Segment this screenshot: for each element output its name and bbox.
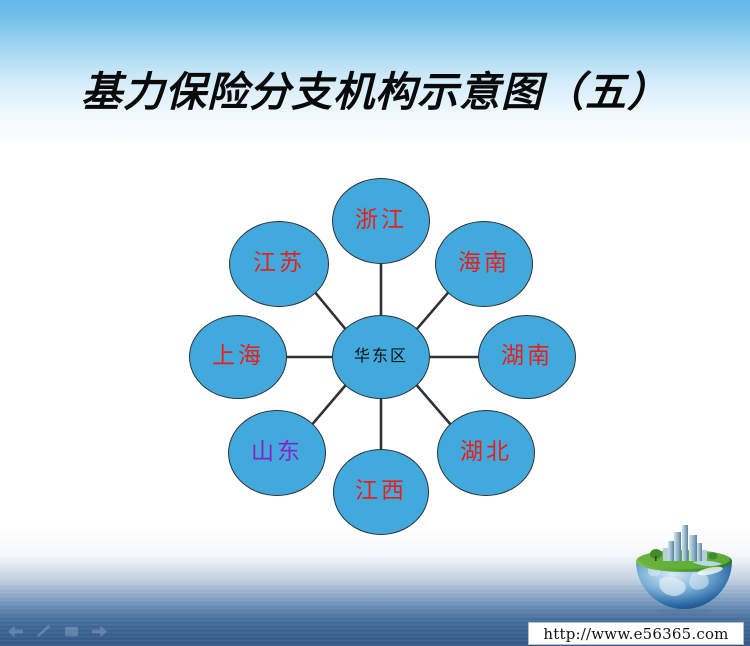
diagram-node-jiangxi[interactable]: 江西: [333, 449, 429, 535]
diagram-node-shanghai[interactable]: 上海: [189, 315, 287, 399]
diagram-node-label: 湖北: [460, 441, 512, 464]
diagram-node-label: 海南: [458, 252, 510, 275]
diagram-node-shandong[interactable]: 山东: [228, 410, 326, 496]
diagram-node-label: 山东: [251, 441, 303, 464]
diagram-node-hubei[interactable]: 湖北: [437, 410, 535, 496]
earth-city-globe-logo: [630, 521, 738, 617]
diagram-node-huadong[interactable]: 华东区: [332, 315, 430, 399]
diagram-node-label: 江西: [355, 480, 407, 503]
watermark-url-plate: http://www.e56365.com: [528, 622, 744, 645]
diagram-node-hainan[interactable]: 海南: [435, 221, 533, 307]
pen-icon[interactable]: [34, 624, 53, 639]
menu-icon[interactable]: [62, 624, 81, 639]
diagram-node-label: 华东区: [354, 348, 408, 364]
watermark-url-text: http://www.e56365.com: [543, 625, 728, 643]
prev-arrow-icon[interactable]: [6, 624, 25, 639]
next-arrow-icon[interactable]: [90, 624, 109, 639]
diagram-node-jiangsu[interactable]: 江苏: [229, 221, 329, 307]
diagram-node-label: 江苏: [253, 252, 305, 275]
diagram-node-label: 上海: [212, 345, 264, 368]
diagram-node-hunan[interactable]: 湖南: [478, 315, 576, 399]
diagram-node-label: 浙江: [355, 209, 407, 232]
diagram-node-label: 湖南: [501, 345, 553, 368]
slideshow-nav-bar[interactable]: [6, 620, 114, 642]
diagram-node-zhejiang[interactable]: 浙江: [332, 178, 430, 264]
presentation-slide: 基力保险分支机构示意图（五） 浙江海南湖南湖北江西山东上海江苏华东区: [0, 0, 750, 646]
